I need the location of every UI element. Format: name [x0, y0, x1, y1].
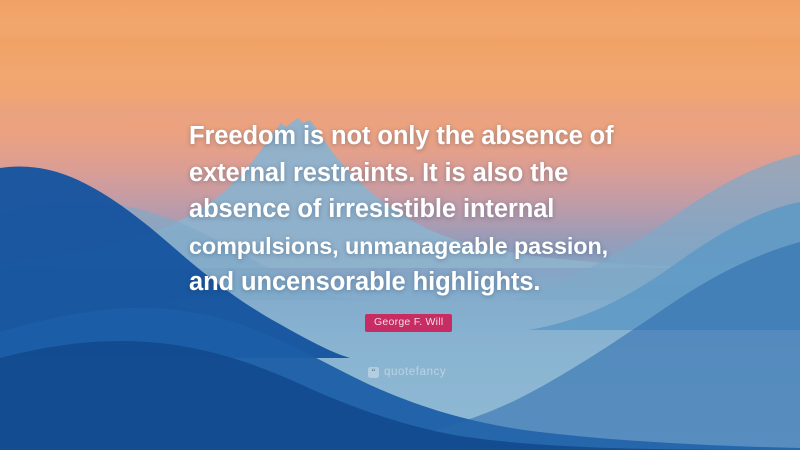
quote-poster: Freedom is not only the absence of exter…	[0, 0, 800, 450]
quote-line-5: and uncensorable highlights.	[189, 264, 629, 301]
quote-mark-icon: “	[368, 367, 379, 378]
watermark-brand-label: quotefancy	[384, 366, 446, 378]
quote-text-block: Freedom is not only the absence of exter…	[189, 118, 629, 301]
quote-mark-glyph: “	[372, 368, 376, 376]
quote-line-2: external restraints. It is also the	[189, 155, 629, 192]
author-badge[interactable]: George F. Will	[365, 314, 452, 332]
quote-line-4: compulsions, unmanageable passion,	[189, 228, 629, 265]
quote-line-1: Freedom is not only the absence of	[189, 118, 629, 155]
quote-line-3: absence of irresistible internal	[189, 191, 629, 228]
quotefancy-watermark[interactable]: “ quotefancy	[368, 366, 446, 378]
